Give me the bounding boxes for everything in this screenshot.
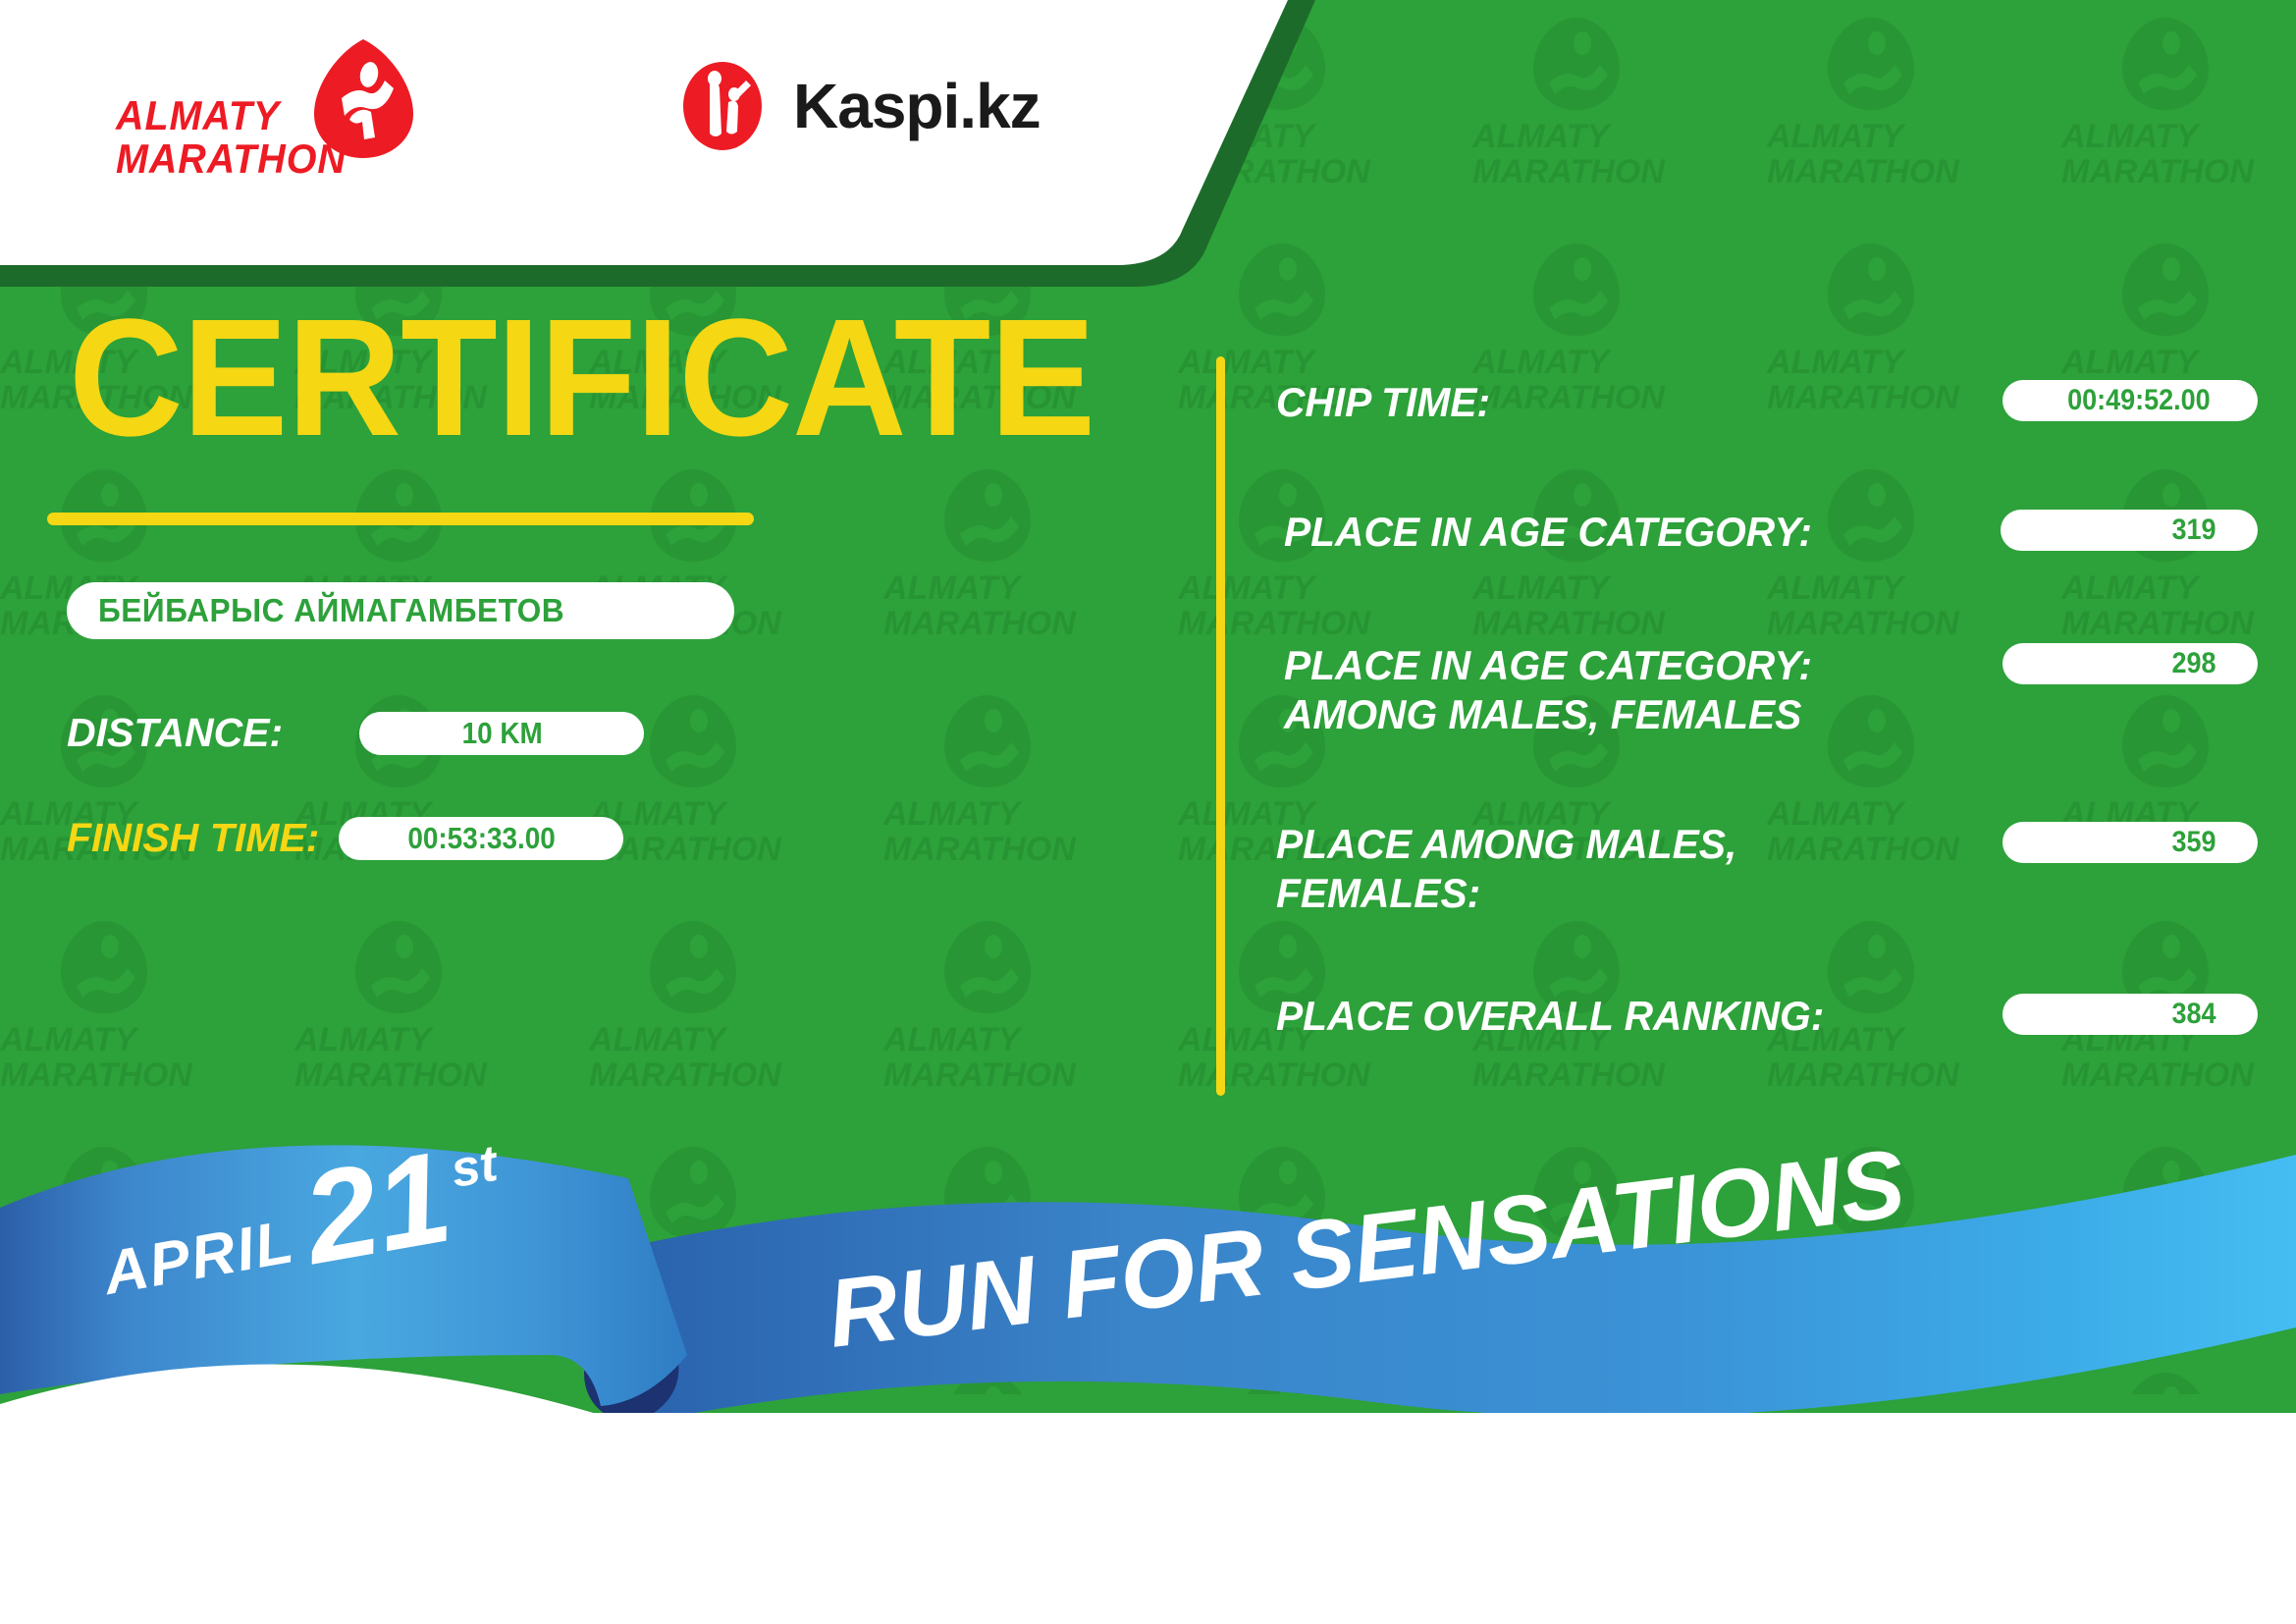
finish-time-row: FINISH TIME: 00:53:33.00: [67, 815, 1207, 861]
sponsors-bar: [0, 1413, 2296, 1624]
distance-value-pill: 10 KM: [359, 712, 644, 755]
participant-name-value: БЕЙБАРЫС АЙМАГАМБЕТОВ: [98, 592, 564, 629]
header: ALMATY MARATHON Kaspi.kz: [0, 0, 1227, 245]
result-value-pill: 00:49:52.00: [2002, 380, 2258, 421]
result-label-line2: AMONG MALES, FEMALES: [1284, 690, 1812, 739]
result-label: PLACE IN AGE CATEGORY: AMONG MALES, FEMA…: [1284, 641, 1812, 739]
column-divider: [1216, 356, 1225, 1096]
result-label: PLACE IN AGE CATEGORY:: [1284, 508, 1812, 557]
result-value-pill: 384: [2002, 994, 2258, 1035]
title-divider: [47, 513, 754, 525]
result-label-line1: PLACE IN AGE CATEGORY:: [1284, 641, 1812, 690]
almaty-marathon-logo: ALMATY MARATHON: [116, 47, 440, 185]
event-day: 21: [297, 1143, 457, 1272]
result-label: PLACE OVERALL RANKING:: [1276, 992, 1824, 1041]
result-value: 298: [2171, 647, 2216, 680]
result-value: 00:49:52.00: [2067, 384, 2211, 417]
certificate-root: ALMATY MARATHON ALMATY MARATHON: [0, 0, 2296, 1624]
finish-time-label: FINISH TIME:: [67, 815, 319, 861]
kaspi-wordmark: Kaspi.kz: [793, 70, 1041, 142]
finish-time-value-pill: 00:53:33.00: [339, 817, 623, 860]
result-label-line1: PLACE AMONG MALES,: [1276, 820, 1736, 869]
distance-value: 10 KM: [461, 716, 542, 751]
result-value: 319: [2171, 514, 2216, 547]
result-value-pill: 319: [2001, 510, 2258, 551]
kaspi-mark-icon: [677, 61, 768, 151]
distance-label: DISTANCE:: [67, 710, 283, 756]
finish-time-value: 00:53:33.00: [407, 821, 555, 856]
kaspi-logo: Kaspi.kz: [677, 61, 1041, 151]
result-label-line2: FEMALES:: [1276, 869, 1736, 918]
result-label: CHIP TIME:: [1276, 378, 1490, 427]
participant-name-field: БЕЙБАРЫС АЙМАГАМБЕТОВ: [67, 582, 734, 639]
distance-row: DISTANCE: 10 KM: [67, 710, 1207, 756]
result-value-pill: 298: [2002, 643, 2258, 684]
result-value-pill: 359: [2002, 822, 2258, 863]
runner-drop-icon: [312, 37, 415, 160]
result-value: 384: [2171, 998, 2216, 1031]
result-label: PLACE AMONG MALES, FEMALES:: [1276, 820, 1736, 918]
left-column: CERTIFICATE БЕЙБАРЫС АЙМАГАМБЕТОВ DISTAN…: [0, 295, 1207, 861]
page-title: CERTIFICATE: [69, 295, 1150, 461]
result-value: 359: [2171, 826, 2216, 859]
